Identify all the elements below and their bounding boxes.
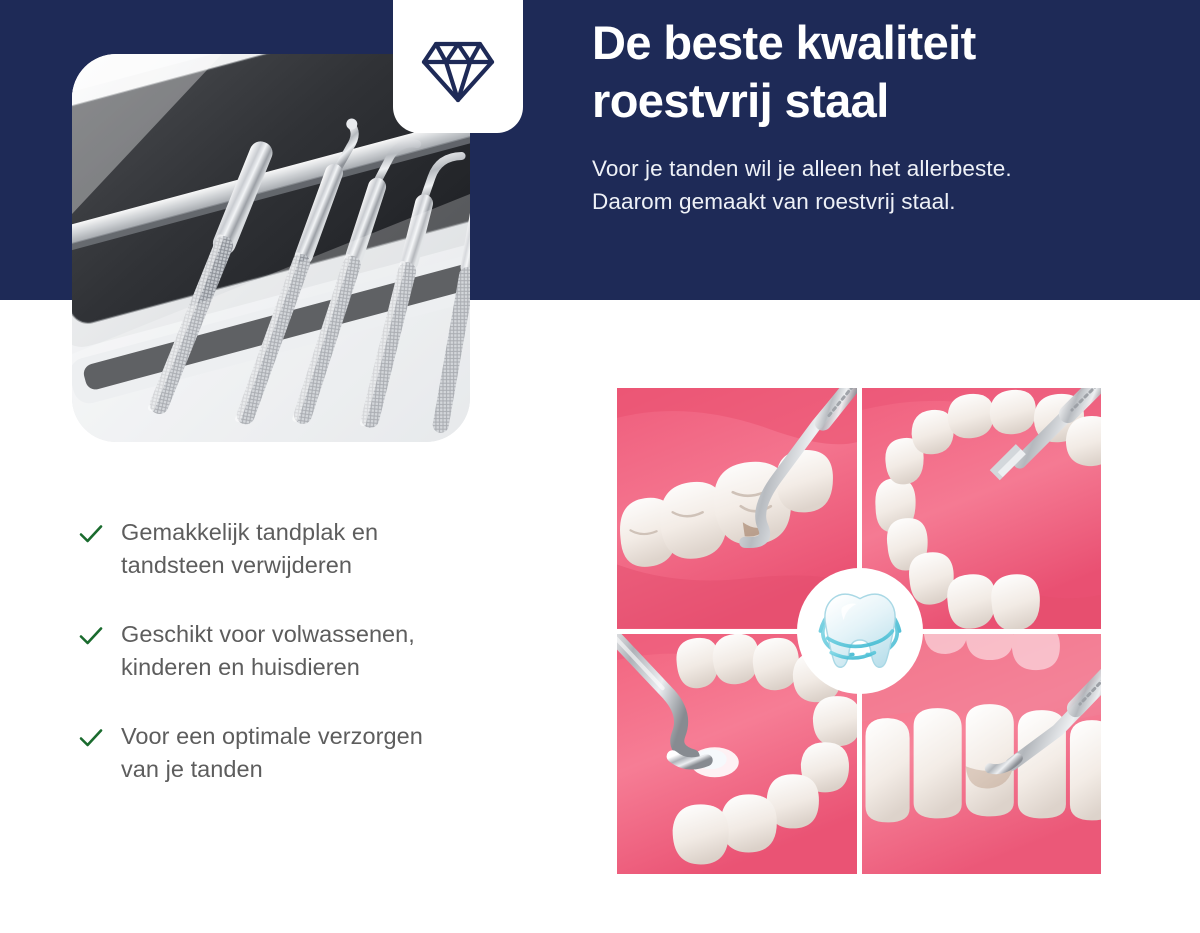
check-icon — [78, 623, 104, 649]
feature-text: Voor een optimale verzorgen van je tande… — [121, 720, 423, 786]
feature-line-2: van je tanden — [121, 756, 263, 782]
quality-badge — [393, 0, 523, 133]
page-subtitle-line-2: Daarom gemaakt van roestvrij staal. — [592, 189, 956, 214]
feature-line-1: Voor een optimale verzorgen — [121, 723, 423, 749]
page-title-line-1: De beste kwaliteit — [592, 16, 976, 69]
feature-line-1: Geschikt voor volwassenen, — [121, 621, 415, 647]
feature-list: Gemakkelijk tandplak en tandsteen verwij… — [78, 516, 578, 786]
diamond-icon — [393, 0, 523, 133]
list-item: Gemakkelijk tandplak en tandsteen verwij… — [78, 516, 578, 582]
feature-line-2: tandsteen verwijderen — [121, 552, 352, 578]
tooth-shine-badge — [797, 568, 923, 694]
feature-text: Geschikt voor volwassenen, kinderen en h… — [121, 618, 415, 684]
feature-line-2: kinderen en huisdieren — [121, 654, 360, 680]
page-title: De beste kwaliteit roestvrij staal — [592, 14, 1172, 130]
page-title-line-2: roestvrij staal — [592, 74, 889, 127]
list-item: Voor een optimale verzorgen van je tande… — [78, 720, 578, 786]
list-item: Geschikt voor volwassenen, kinderen en h… — [78, 618, 578, 684]
headline-block: De beste kwaliteit roestvrij staal Voor … — [592, 14, 1172, 218]
check-icon — [78, 521, 104, 547]
feature-line-1: Gemakkelijk tandplak en — [121, 519, 378, 545]
check-icon — [78, 725, 104, 751]
tooth-shine-icon — [806, 577, 914, 685]
feature-text: Gemakkelijk tandplak en tandsteen verwij… — [121, 516, 378, 582]
page-subtitle-line-1: Voor je tanden wil je alleen het allerbe… — [592, 156, 1012, 181]
page-subtitle: Voor je tanden wil je alleen het allerbe… — [592, 130, 1172, 218]
